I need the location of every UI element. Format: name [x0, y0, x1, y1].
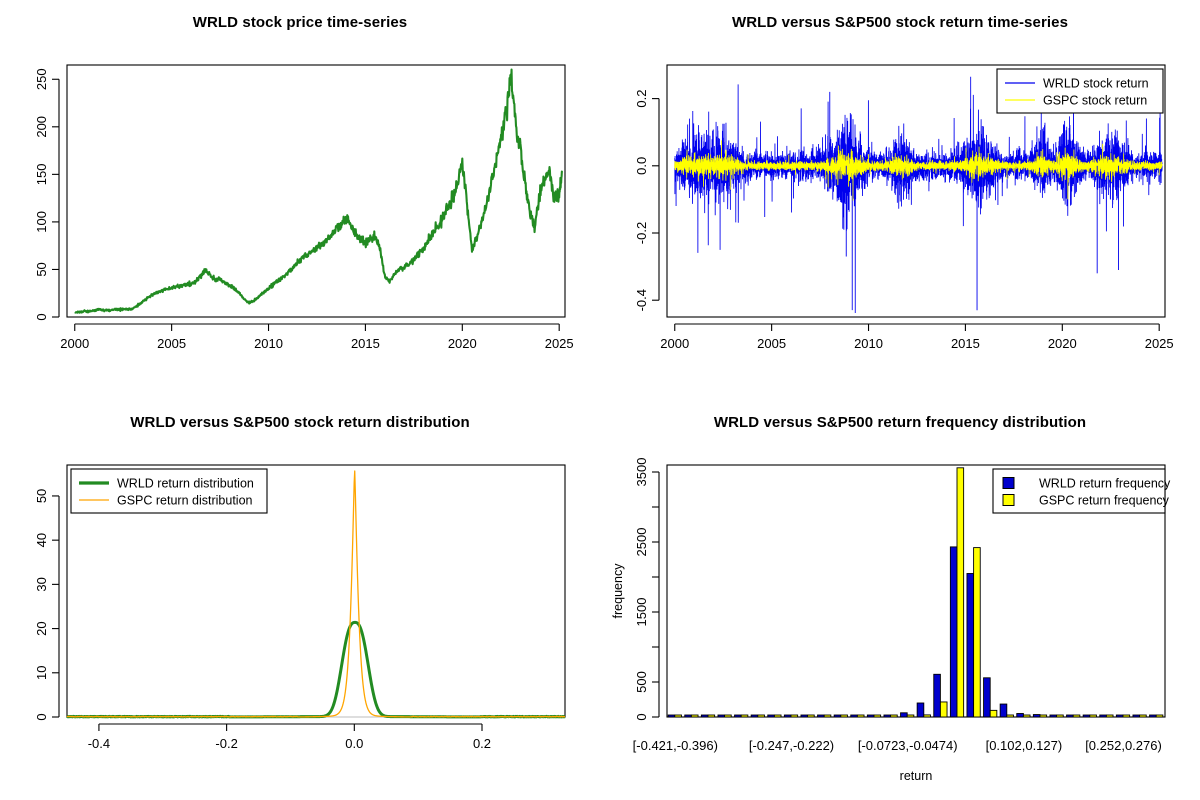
- svg-text:2015: 2015: [951, 336, 980, 351]
- svg-text:0.2: 0.2: [634, 90, 649, 108]
- svg-text:3500: 3500: [634, 458, 649, 487]
- density-plot: -0.4-0.20.00.201020304050WRLD return dis…: [0, 400, 600, 800]
- svg-text:2020: 2020: [448, 336, 477, 351]
- svg-text:1500: 1500: [634, 598, 649, 627]
- svg-text:2500: 2500: [634, 528, 649, 557]
- panel-return-timeseries: WRLD versus S&P500 stock return time-ser…: [600, 0, 1200, 400]
- figure-root: WRLD stock price time-series 20002005201…: [0, 0, 1200, 800]
- price-plot: 200020052010201520202025050100150200250: [0, 0, 600, 400]
- svg-text:WRLD return distribution: WRLD return distribution: [117, 477, 254, 491]
- svg-text:100: 100: [34, 211, 49, 233]
- svg-text:2010: 2010: [254, 336, 283, 351]
- svg-text:WRLD return frequency: WRLD return frequency: [1039, 477, 1171, 491]
- panel-price-timeseries: WRLD stock price time-series 20002005201…: [0, 0, 600, 400]
- svg-text:2015: 2015: [351, 336, 380, 351]
- svg-text:-0.4: -0.4: [634, 289, 649, 311]
- svg-text:[-0.0723,-0.0474): [-0.0723,-0.0474): [858, 738, 958, 753]
- svg-text:250: 250: [34, 68, 49, 90]
- svg-text:500: 500: [634, 671, 649, 693]
- svg-text:2000: 2000: [60, 336, 89, 351]
- svg-text:30: 30: [34, 577, 49, 591]
- svg-text:50: 50: [34, 489, 49, 503]
- histogram-plot: 0500150025003500[-0.421,-0.396)[-0.247,-…: [600, 400, 1200, 800]
- svg-text:50: 50: [34, 262, 49, 276]
- svg-text:200: 200: [34, 116, 49, 138]
- svg-text:2000: 2000: [660, 336, 689, 351]
- svg-text:2025: 2025: [1145, 336, 1174, 351]
- svg-text:40: 40: [34, 533, 49, 547]
- svg-text:0.2: 0.2: [473, 736, 491, 751]
- svg-text:2005: 2005: [157, 336, 186, 351]
- svg-text:-0.4: -0.4: [88, 736, 110, 751]
- svg-text:GSPC return distribution: GSPC return distribution: [117, 494, 253, 508]
- svg-text:GSPC stock return: GSPC stock return: [1043, 94, 1147, 108]
- svg-text:return: return: [900, 769, 933, 783]
- svg-text:frequency: frequency: [611, 563, 625, 619]
- svg-text:[-0.421,-0.396): [-0.421,-0.396): [633, 738, 718, 753]
- svg-text:-0.2: -0.2: [634, 222, 649, 244]
- svg-text:0: 0: [634, 713, 649, 720]
- svg-text:0.0: 0.0: [634, 157, 649, 175]
- svg-text:WRLD stock return: WRLD stock return: [1043, 77, 1149, 91]
- svg-text:10: 10: [34, 666, 49, 680]
- svg-text:0.0: 0.0: [345, 736, 363, 751]
- svg-text:[0.102,0.127): [0.102,0.127): [986, 738, 1063, 753]
- svg-text:2020: 2020: [1048, 336, 1077, 351]
- svg-text:[-0.247,-0.222): [-0.247,-0.222): [749, 738, 834, 753]
- svg-text:2005: 2005: [757, 336, 786, 351]
- svg-text:2025: 2025: [545, 336, 574, 351]
- panel-return-frequency: WRLD versus S&P500 return frequency dist…: [600, 400, 1200, 800]
- svg-text:-0.2: -0.2: [215, 736, 237, 751]
- svg-text:GSPC return frequency: GSPC return frequency: [1039, 494, 1170, 508]
- svg-text:20: 20: [34, 621, 49, 635]
- panel-return-distribution: WRLD versus S&P500 stock return distribu…: [0, 400, 600, 800]
- svg-text:0: 0: [34, 313, 49, 320]
- svg-text:2010: 2010: [854, 336, 883, 351]
- svg-text:[0.252,0.276): [0.252,0.276): [1085, 738, 1162, 753]
- svg-text:150: 150: [34, 164, 49, 186]
- svg-text:0: 0: [34, 713, 49, 720]
- returns-plot: 200020052010201520202025-0.4-0.20.00.2WR…: [600, 0, 1200, 400]
